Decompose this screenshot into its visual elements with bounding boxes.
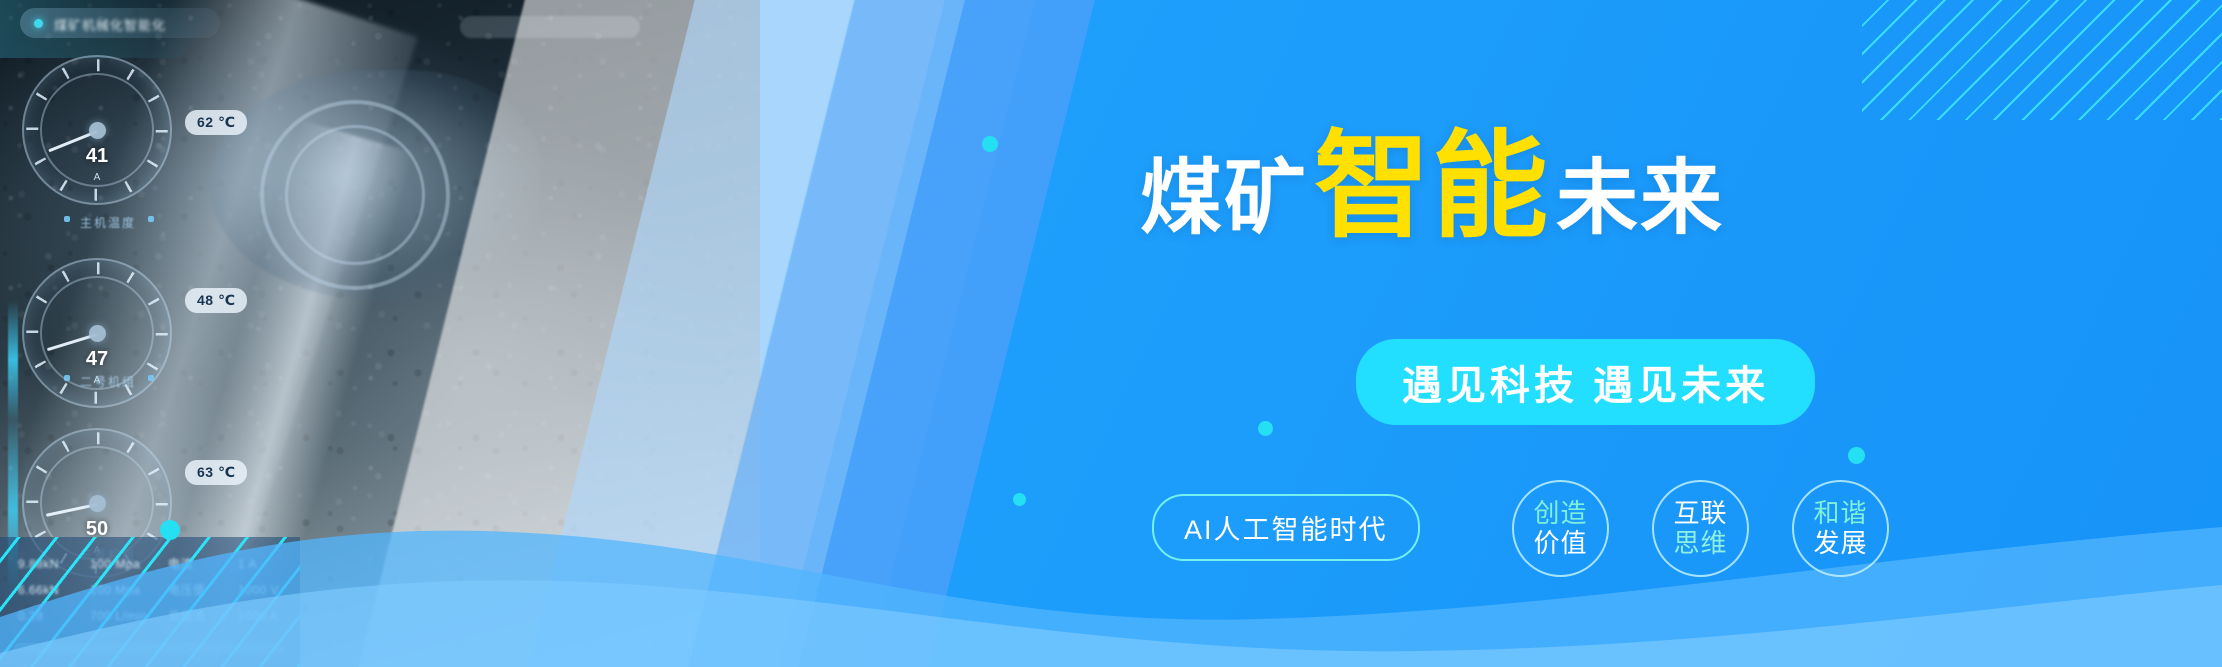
- telemetry-r3-c3: 总电流: [168, 607, 238, 624]
- badge-2-line-2: 思维: [1673, 529, 1727, 559]
- badge-1-line-2: 价值: [1533, 529, 1587, 559]
- diagonal-band-4: [780, 0, 1109, 667]
- gauge-2-label-dot-left: [64, 375, 70, 381]
- mining-photo-panel: 煤矿机械化智能化 41 A 62 ℃ 主机温度 47 A 48 ℃ 二号机组: [0, 0, 760, 667]
- gauge-1: 41 A: [22, 55, 172, 205]
- telemetry-r3-c4: 1000 A: [238, 609, 278, 623]
- gauge-1-value: 41: [22, 145, 172, 168]
- gauge-1-label: 主机温度: [80, 214, 136, 231]
- table-row: 0.28700 L/min总电流1000 A: [18, 607, 288, 629]
- header-right-widget: [460, 16, 640, 38]
- telemetry-r2-c2: 100 Mpa: [90, 583, 168, 597]
- gauge-2-temperature-badge: 48 ℃: [185, 288, 247, 313]
- gauge-1-unit: A: [22, 172, 172, 183]
- telemetry-progress-bar: [14, 643, 284, 653]
- decorative-dot-3: [1013, 493, 1026, 506]
- telemetry-table: 9.88kN100 Mpa电流1 A 6.66kN100 Mpa电压值1000 …: [0, 537, 300, 667]
- banner-content: 煤矿智能未来 遇见科技 遇见未来 AI人工智能时代 创造 价值 互联 思维 和谐…: [1080, 0, 2222, 667]
- telemetry-r3-c1: 0.28: [18, 609, 90, 623]
- telemetry-r2-c1: 6.66kN: [18, 583, 90, 597]
- decorative-dot-5: [160, 520, 180, 540]
- telemetry-r1-c1: 9.88kN: [18, 557, 90, 571]
- banner-root: 煤矿机械化智能化 41 A 62 ℃ 主机温度 47 A 48 ℃ 二号机组: [0, 0, 2222, 667]
- gauge-3-temperature-badge: 63 ℃: [185, 460, 247, 485]
- badge-circle-harmonious-development: 和谐 发展: [1792, 480, 1889, 577]
- telemetry-r2-c3: 电压值: [168, 581, 238, 598]
- badge-3-line-2: 发展: [1813, 529, 1867, 559]
- telemetry-r1-c4: 1 A: [238, 557, 257, 571]
- status-dot-icon: [34, 19, 43, 28]
- badge-2-line-1: 互联: [1673, 499, 1727, 529]
- gauge-1-temperature-badge: 62 ℃: [185, 110, 247, 135]
- ai-era-pill: AI人工智能时代: [1152, 494, 1420, 561]
- badge-3-line-1: 和谐: [1813, 499, 1867, 529]
- gauge-1-label-dot-right: [148, 216, 154, 222]
- headline-part-2-highlight: 智能: [1314, 121, 1550, 251]
- table-row: 6.66kN100 Mpa电压值1000 V: [18, 581, 288, 603]
- subtitle-pill: 遇见科技 遇见未来: [1356, 339, 1815, 425]
- gauge-3-hub: [89, 495, 106, 512]
- telemetry-r1-c3: 电流: [168, 555, 238, 572]
- telemetry-r1-c2: 100 Mpa: [90, 557, 168, 571]
- gauge-2-hub: [89, 325, 106, 342]
- telemetry-r2-c4: 1000 V: [238, 583, 279, 597]
- panel-header-chip: 煤矿机械化智能化: [20, 8, 220, 38]
- page-title: 煤矿智能未来: [1140, 128, 1724, 244]
- badge-row: AI人工智能时代 创造 价值 互联 思维 和谐 发展: [1080, 480, 2222, 610]
- gauge-2-label-dot-right: [148, 375, 154, 381]
- gauge-1-label-dot-left: [64, 216, 70, 222]
- gauge-2-label: 二号机组: [80, 373, 136, 390]
- panel-header-text: 煤矿机械化智能化: [54, 15, 166, 34]
- headline-part-3: 未来: [1556, 153, 1724, 244]
- headline-part-1: 煤矿: [1140, 153, 1308, 244]
- gauge-1-hub: [89, 122, 106, 139]
- telemetry-r3-c2: 700 L/min: [90, 609, 168, 623]
- badge-circle-create-value: 创造 价值: [1512, 480, 1609, 577]
- machine-ring-inner: [285, 125, 425, 265]
- table-row: 9.88kN100 Mpa电流1 A: [18, 555, 288, 577]
- gauge-2-value: 47: [22, 348, 172, 371]
- badge-circle-connected-thinking: 互联 思维: [1652, 480, 1749, 577]
- decorative-dot-1: [982, 136, 998, 152]
- badge-1-line-1: 创造: [1533, 499, 1587, 529]
